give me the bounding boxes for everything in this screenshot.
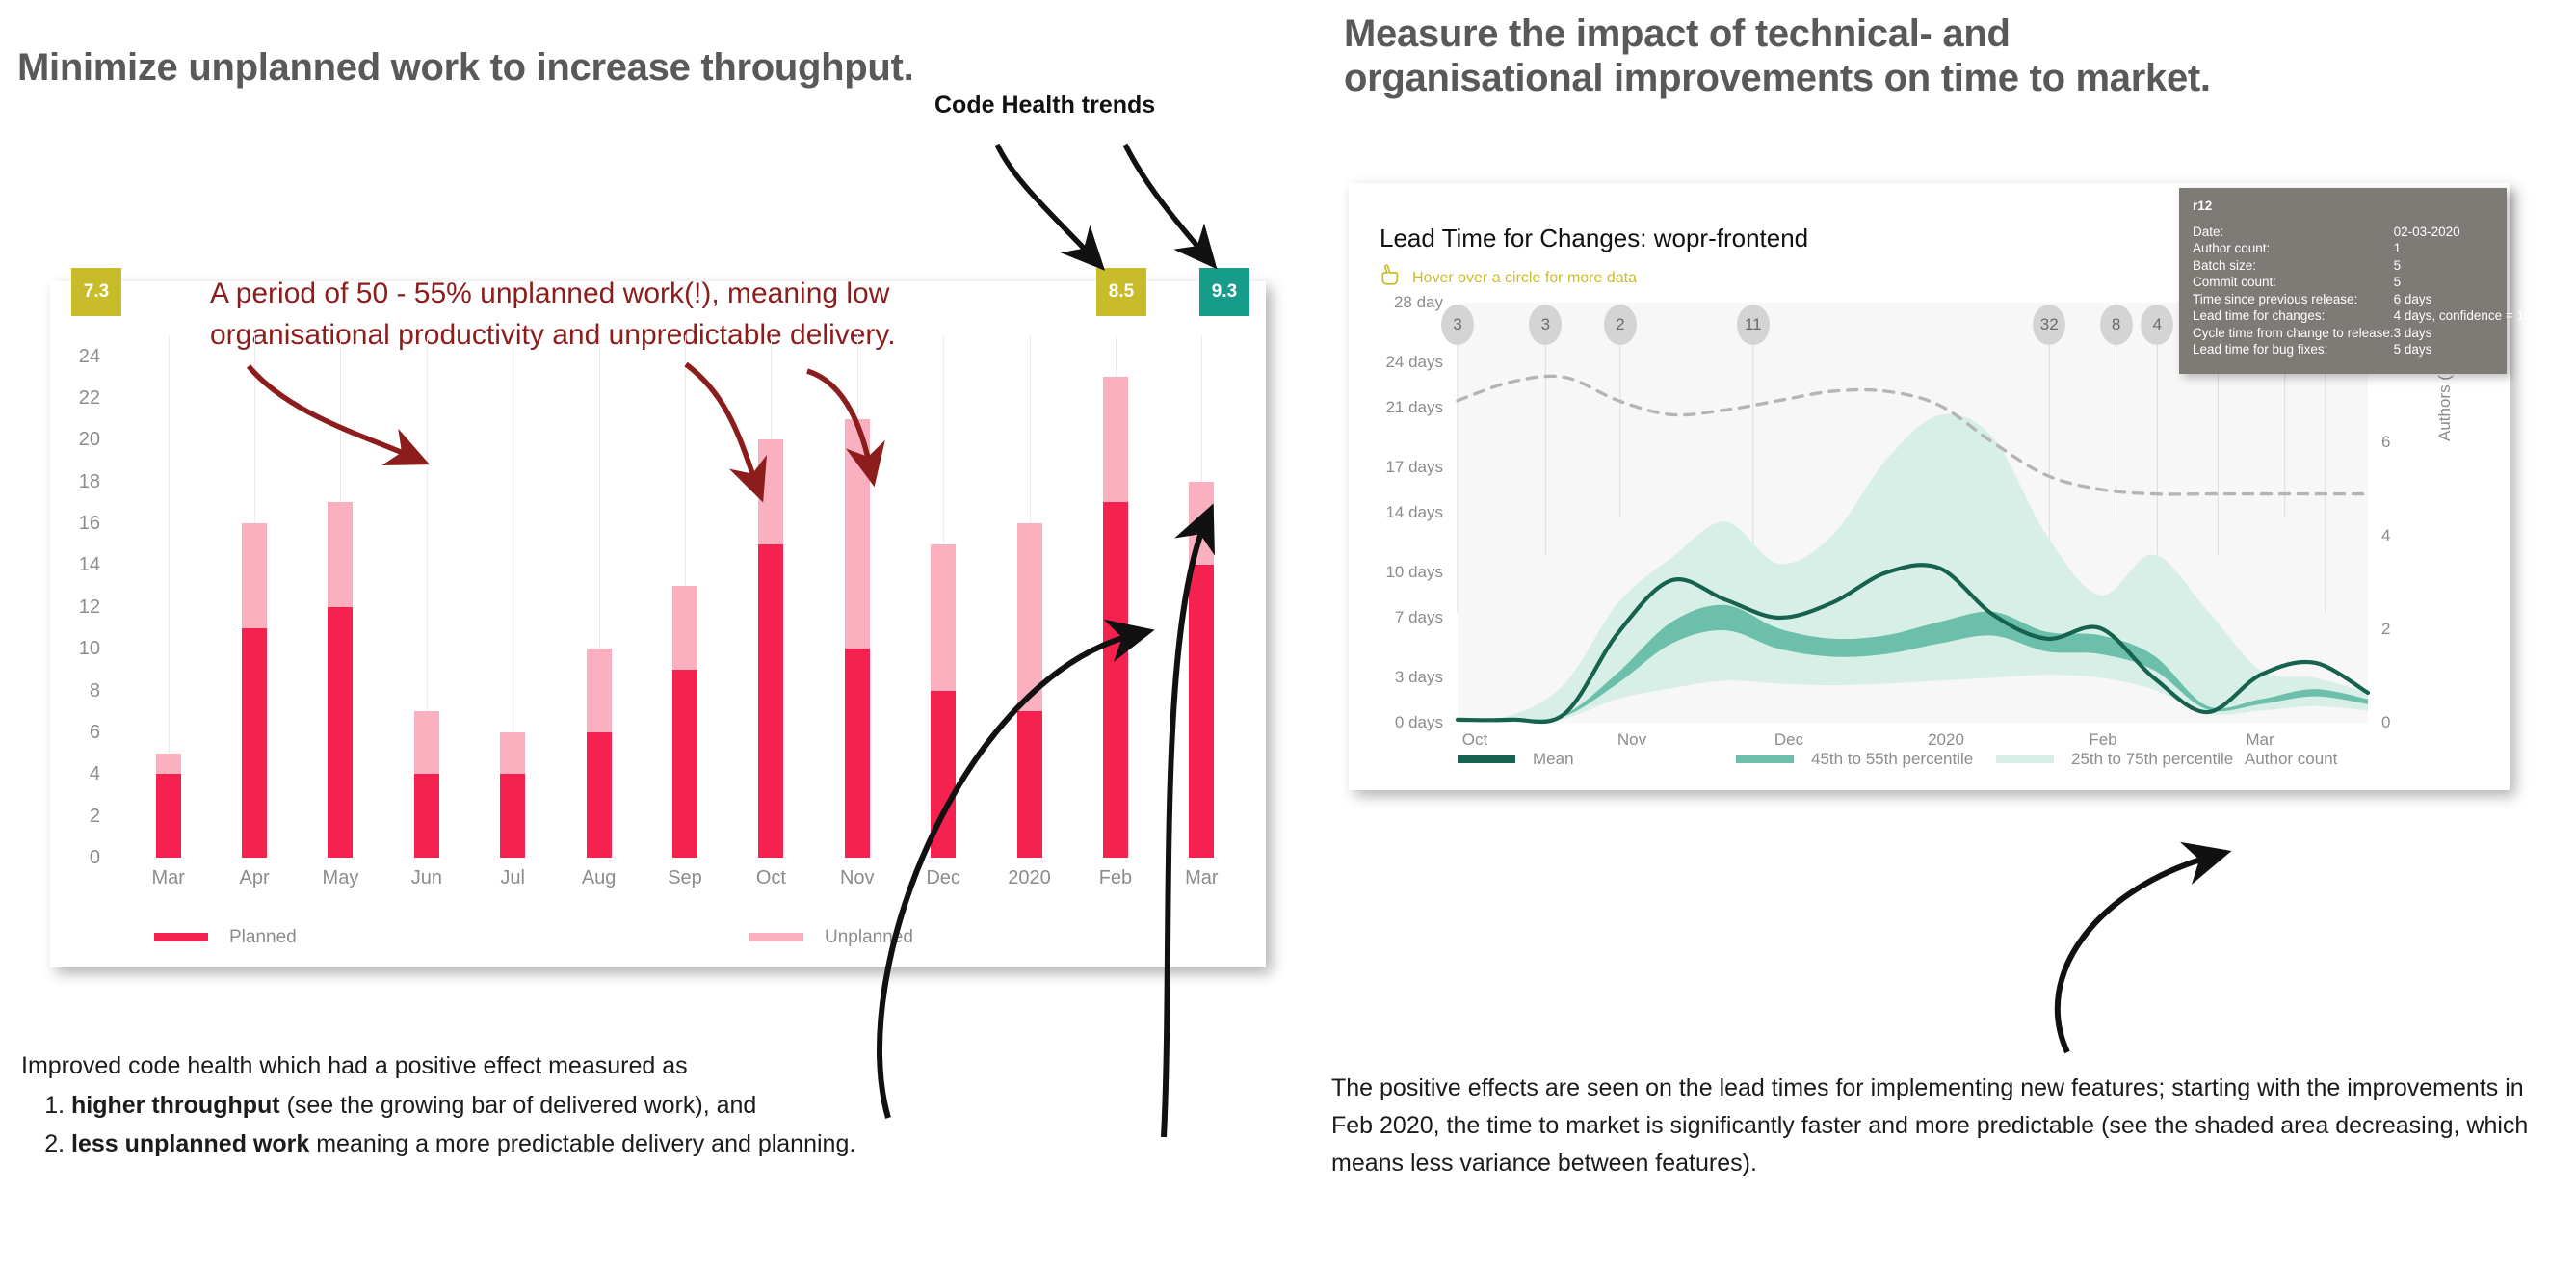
bar-unplanned-mar-0[interactable] (156, 754, 181, 775)
bar-unplanned-apr-1[interactable] (242, 523, 267, 627)
bar-x-tick-11: Feb (1082, 867, 1149, 889)
tooltip-row-5: Lead time for changes:4 days, confidence… (2193, 307, 2550, 325)
lt-y-tick-14: 14 days (1376, 503, 1443, 522)
tooltip-key-5: Lead time for changes: (2193, 307, 2394, 325)
lt-y-tick-3: 3 days (1376, 668, 1443, 687)
tooltip-key-2: Batch size: (2193, 257, 2394, 275)
tooltip-row-2: Batch size:5 (2193, 257, 2550, 275)
lt-x-tick-mar: Mar (2226, 730, 2294, 750)
bar-unplanned-2020-10[interactable] (1017, 523, 1042, 711)
bar-y-tick-2: 2 (67, 806, 100, 828)
bar-unplanned-aug-5[interactable] (587, 649, 612, 732)
caption-left-item-0: higher throughput (see the growing bar o… (71, 1086, 855, 1126)
bar-planned-apr-1[interactable] (242, 628, 267, 858)
tooltip-table: Date:02-03-2020Author count:1Batch size:… (2193, 224, 2550, 358)
bar-planned-jul-4[interactable] (500, 774, 525, 858)
bar-planned-oct-7[interactable] (758, 544, 783, 858)
tooltip-row-7: Lead time for bug fixes:5 days (2193, 341, 2550, 358)
code-health-badge-feb: 8.5 (1096, 268, 1146, 316)
tooltip-value-1: 1 (2394, 240, 2551, 257)
tooltip-value-2: 5 (2394, 257, 2551, 275)
bar-y-tick-12: 12 (67, 596, 100, 619)
code-health-badge-mar: 9.3 (1199, 268, 1249, 316)
lt-y2-tick-6: 6 (2381, 433, 2410, 452)
lt-y2-tick-4: 4 (2381, 526, 2410, 545)
red-annotation-line2: organisational productivity and unpredic… (210, 315, 1058, 357)
bar-unplanned-sep-6[interactable] (672, 586, 697, 670)
tooltip-title: r12 (2193, 198, 2493, 215)
bar-planned-mar-12[interactable] (1189, 565, 1214, 858)
bar-y-tick-18: 18 (67, 471, 100, 493)
bar-plot-area (50, 281, 1266, 967)
bar-x-tick-7: Oct (737, 867, 804, 889)
bar-unplanned-feb-11[interactable] (1103, 377, 1128, 502)
bar-unplanned-dec-9[interactable] (931, 544, 956, 691)
bar-legend-label-planned: Planned (229, 927, 297, 948)
bar-planned-feb-11[interactable] (1103, 502, 1128, 858)
release-circle-3[interactable]: 11 (1737, 305, 1770, 345)
lt-legend-label-1: 45th to 55th percentile (1811, 750, 1973, 769)
bar-y-tick-8: 8 (67, 680, 100, 702)
bar-x-tick-12: Mar (1168, 867, 1235, 889)
bar-planned-nov-8[interactable] (845, 649, 870, 858)
lt-legend-label-2: 25th to 75th percentile (2071, 750, 2233, 769)
bar-unplanned-mar-12[interactable] (1189, 482, 1214, 566)
throughput-bar-chart-card: 7.3 8.5 9.3 A period of 50 - 55% unplann… (50, 281, 1266, 967)
caption-left-intro: Improved code health which had a positiv… (21, 1047, 855, 1086)
bar-x-tick-4: Jul (479, 867, 546, 889)
tooltip-value-0: 02-03-2020 (2394, 224, 2551, 241)
bar-x-tick-5: Aug (565, 867, 633, 889)
code-health-trends-label: Code Health trends (934, 92, 1155, 119)
tooltip-row-0: Date:02-03-2020 (2193, 224, 2550, 241)
tooltip-value-7: 5 days (2394, 341, 2551, 358)
red-annotation: A period of 50 - 55% unplanned work(!), … (210, 274, 1058, 356)
lt-legend-label-0: Mean (1533, 750, 1574, 769)
bar-x-tick-6: Sep (651, 867, 719, 889)
tooltip-value-5: 4 days, confidence = 100% (2394, 307, 2551, 325)
lt-y-tick-7: 7 days (1376, 608, 1443, 627)
lt-y2-tick-2: 2 (2381, 620, 2410, 639)
page-title-right: Measure the impact of technical- and org… (1344, 12, 2567, 100)
lt-x-tick-dec: Dec (1755, 730, 1823, 750)
bar-y-tick-4: 4 (67, 763, 100, 785)
lt-x-tick-oct: Oct (1441, 730, 1509, 750)
tooltip-row-1: Author count:1 (2193, 240, 2550, 257)
lead-time-card: Lead Time for Changes: wopr-frontend Hov… (1349, 183, 2510, 790)
lt-y-tick-21: 21 days (1376, 398, 1443, 417)
lt-legend-swatch-2 (1996, 755, 2054, 763)
caption-left-list: higher throughput (see the growing bar o… (71, 1086, 855, 1164)
release-circle-2[interactable]: 2 (1604, 305, 1637, 345)
caption-left-item-bold-1: less unplanned work (71, 1130, 309, 1157)
bar-legend-swatch-planned (154, 933, 208, 941)
caption-left: Improved code health which had a positiv… (21, 1047, 855, 1164)
bar-unplanned-may-2[interactable] (328, 502, 353, 606)
tooltip-row-6: Cycle time from change to release:3 days (2193, 325, 2550, 342)
code-health-badge-start: 7.3 (71, 268, 121, 316)
lt-x-tick-nov: Nov (1598, 730, 1666, 750)
bar-planned-sep-6[interactable] (672, 670, 697, 858)
lt-y-tick-17: 17 days (1376, 458, 1443, 477)
lt-x-tick-feb: Feb (2069, 730, 2137, 750)
page-title-right-line1: Measure the impact of technical- and (1344, 12, 2567, 56)
bar-x-tick-0: Mar (135, 867, 202, 889)
lt-y-tick-10: 10 days (1376, 563, 1443, 582)
release-tooltip: r12 Date:02-03-2020Author count:1Batch s… (2179, 188, 2507, 374)
bar-x-tick-8: Nov (824, 867, 891, 889)
caption-left-item-1: less unplanned work meaning a more predi… (71, 1125, 855, 1164)
bar-y-tick-24: 24 (67, 346, 100, 368)
bar-x-tick-3: Jun (393, 867, 460, 889)
bar-y-tick-0: 0 (67, 847, 100, 869)
bar-unplanned-jul-4[interactable] (500, 732, 525, 774)
bar-planned-mar-0[interactable] (156, 774, 181, 858)
tooltip-key-1: Author count: (2193, 240, 2394, 257)
caption-right: The positive effects are seen on the lea… (1331, 1070, 2560, 1182)
lt-x-tick-2020: 2020 (1912, 730, 1980, 750)
bar-y-tick-10: 10 (67, 638, 100, 660)
lt-legend-label-3: Author count (2245, 750, 2337, 769)
tooltip-value-4: 6 days (2394, 291, 2551, 308)
bar-planned-dec-9[interactable] (931, 691, 956, 858)
lead-time-hint: Hover over a circle for more data (1412, 270, 1637, 287)
bar-x-tick-10: 2020 (996, 867, 1064, 889)
bar-y-tick-14: 14 (67, 554, 100, 576)
bar-planned-aug-5[interactable] (587, 732, 612, 858)
page-title-left: Minimize unplanned work to increase thro… (17, 46, 913, 90)
tooltip-row-3: Commit count:5 (2193, 274, 2550, 291)
bar-unplanned-jun-3[interactable] (414, 711, 439, 774)
tooltip-value-3: 5 (2394, 274, 2551, 291)
bar-x-tick-2: May (306, 867, 374, 889)
tooltip-value-6: 3 days (2394, 325, 2551, 342)
red-annotation-line1: A period of 50 - 55% unplanned work(!), … (210, 274, 1058, 315)
bar-x-tick-1: Apr (221, 867, 288, 889)
lt-y-tick-28: 28 day (1376, 293, 1443, 312)
release-circle-0[interactable]: 3 (1441, 305, 1474, 345)
lt-y-tick-0: 0 days (1376, 713, 1443, 732)
release-circle-5[interactable]: 8 (2100, 305, 2133, 345)
lt-y2-tick-0: 0 (2381, 713, 2410, 732)
pointing-hand-icon (1380, 262, 1405, 287)
bar-x-tick-9: Dec (909, 867, 977, 889)
lt-legend-swatch-1 (1736, 755, 1794, 763)
bar-planned-jun-3[interactable] (414, 774, 439, 858)
caption-left-item-bold-0: higher throughput (71, 1092, 280, 1119)
bar-unplanned-oct-7[interactable] (758, 439, 783, 543)
lt-y-tick-24: 24 days (1376, 353, 1443, 372)
bar-y-tick-6: 6 (67, 722, 100, 744)
bar-legend-label-unplanned: Unplanned (825, 927, 913, 948)
lead-time-title: Lead Time for Changes: wopr-frontend (1380, 224, 1808, 253)
bar-legend-swatch-unplanned (749, 933, 803, 941)
tooltip-key-6: Cycle time from change to release: (2193, 325, 2394, 342)
tooltip-row-4: Time since previous release:6 days (2193, 291, 2550, 308)
bar-planned-may-2[interactable] (328, 607, 353, 858)
bar-y-tick-16: 16 (67, 513, 100, 535)
tooltip-key-0: Date: (2193, 224, 2394, 241)
tooltip-key-4: Time since previous release: (2193, 291, 2394, 308)
page-title-right-line2: organisational improvements on time to m… (1344, 56, 2567, 100)
lt-legend-swatch-0 (1458, 755, 1515, 763)
release-circle-4[interactable]: 32 (2033, 305, 2065, 345)
bar-planned-2020-10[interactable] (1017, 711, 1042, 858)
bar-y-tick-22: 22 (67, 387, 100, 410)
bar-unplanned-nov-8[interactable] (845, 419, 870, 649)
tooltip-key-3: Commit count: (2193, 274, 2394, 291)
tooltip-key-7: Lead time for bug fixes: (2193, 341, 2394, 358)
bar-y-tick-20: 20 (67, 429, 100, 451)
